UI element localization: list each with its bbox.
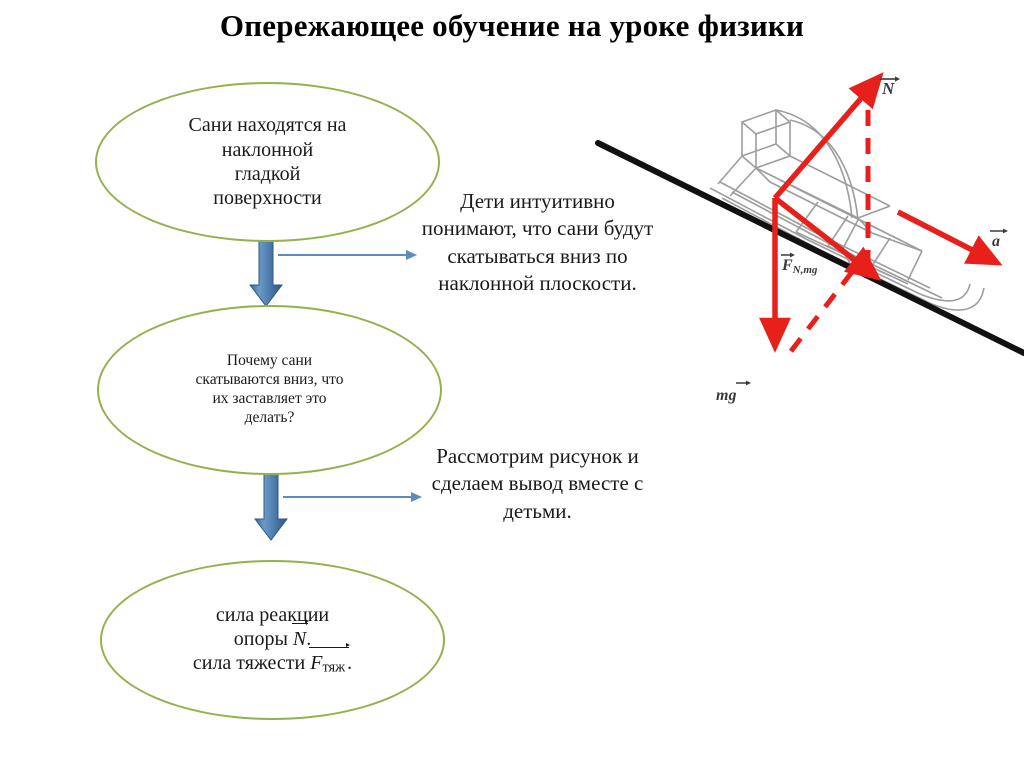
flow-node-premise-text: Сани находятся на наклонной гладкой пове…: [135, 113, 401, 211]
dashed-construction-lines: [788, 110, 868, 355]
flow-node-question: Почему сани скатываются вниз, что их зас…: [97, 305, 442, 475]
connector-arrow-right-2: [283, 490, 423, 509]
page-title: Опережающее обучение на уроке физики: [0, 8, 1024, 44]
forces-line-2: опоры N.: [140, 627, 406, 651]
question-line-2: скатываются вниз, что: [137, 371, 403, 390]
acceleration-label-text: a: [992, 233, 1000, 250]
flow-node-question-text: Почему сани скатываются вниз, что их зас…: [137, 352, 403, 428]
forces-line-1: сила реакции: [140, 603, 406, 627]
resultant-force-label-subscript: N,mg: [792, 264, 818, 276]
flow-node-forces: сила реакции опоры N. сила тяжести Fтяж.: [100, 560, 445, 720]
gravity-force-subscript: тяж: [322, 660, 345, 676]
gravity-force-letter: F: [310, 652, 322, 674]
premise-line-1: Сани находятся на: [135, 113, 401, 137]
flow-node-premise: Сани находятся на наклонной гладкой пове…: [95, 82, 440, 242]
question-line-4: делать?: [137, 409, 403, 428]
question-line-3: их заставляет это: [137, 390, 403, 409]
figure-labels: N a FN,mg mg: [716, 76, 1008, 404]
forces-line-3-prefix: сила тяжести: [193, 652, 310, 674]
premise-line-3: гладкой: [135, 162, 401, 186]
weight-label-vector-head: [746, 381, 751, 386]
commentary-paragraph-2: Рассмотрим рисунок и сделаем вывод вмест…: [420, 443, 655, 525]
connector-arrow-right-1: [278, 248, 418, 267]
gravity-force-vector-symbol: Fтяж: [310, 651, 347, 677]
forces-line-3: сила тяжести Fтяж.: [140, 651, 406, 677]
acceleration-arrow: [898, 212, 984, 256]
premise-line-2: наклонной: [135, 138, 401, 162]
normal-force-label: N: [881, 79, 895, 98]
normal-force-label-vector-head: [895, 76, 900, 81]
resultant-force-label-text: F: [781, 257, 793, 274]
flow-node-forces-text: сила реакции опоры N. сила тяжести Fтяж.: [140, 603, 406, 678]
resultant-force-label: FN,mg: [781, 257, 818, 276]
normal-force-vector-symbol: N: [293, 627, 306, 651]
forces-line-2-prefix: опоры: [234, 628, 293, 650]
acceleration-label-vector-head: [1003, 229, 1008, 234]
weight-label: mg: [716, 387, 736, 404]
forces-line-3-suffix: .: [347, 652, 352, 674]
physics-force-diagram: N a FN,mg mg: [590, 70, 1024, 440]
normal-force-label-text: N: [881, 79, 895, 98]
question-line-1: Почему сани: [137, 352, 403, 371]
acceleration-label: a: [992, 233, 1000, 250]
premise-line-4: поверхности: [135, 186, 401, 210]
weight-label-text: mg: [716, 387, 736, 404]
